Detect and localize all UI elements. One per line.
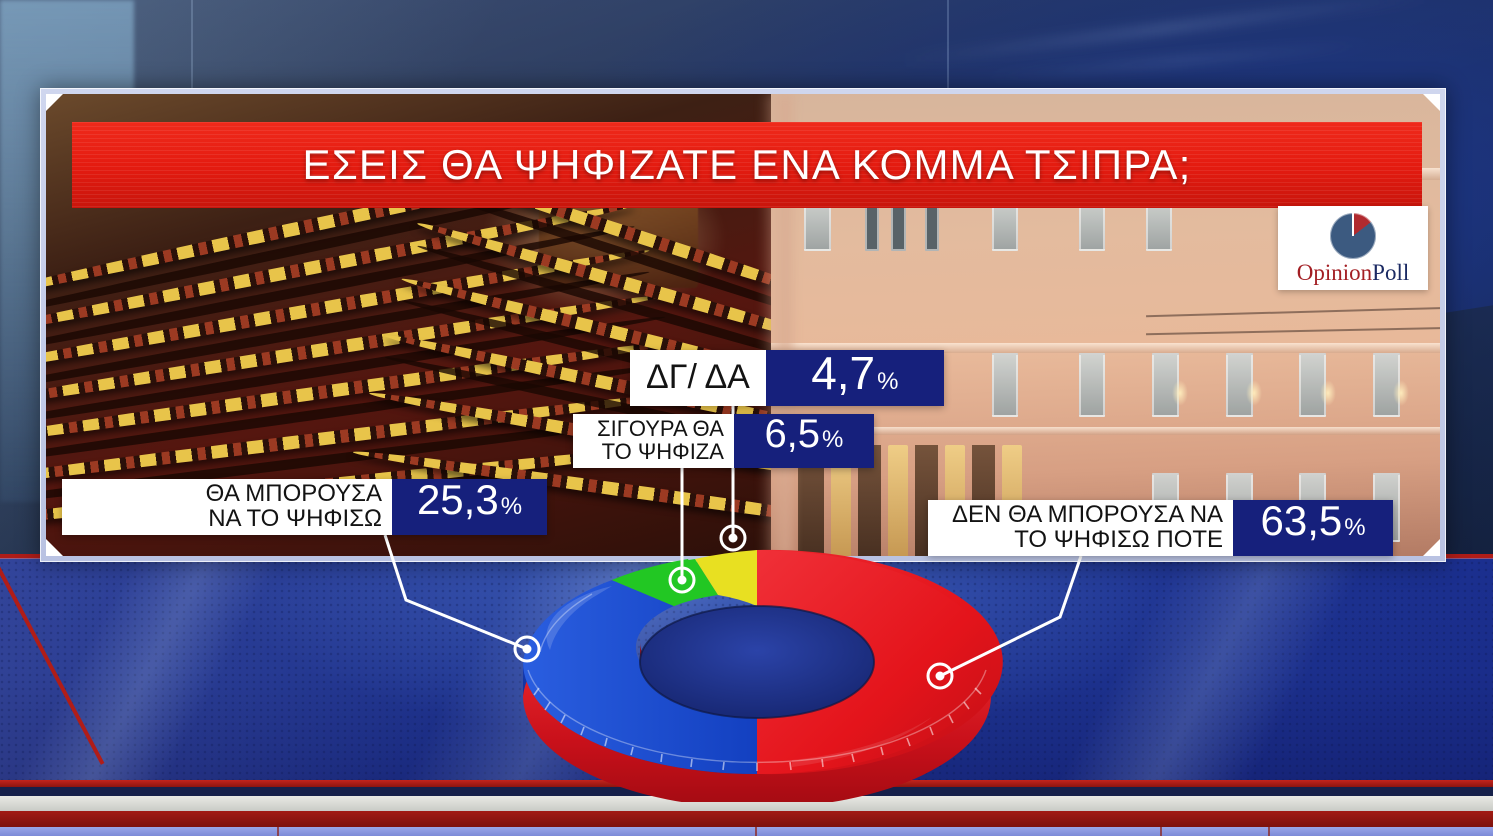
band-tick-4 [1268,827,1270,836]
callout-sigoura-number: 6,5 [764,414,820,454]
title-bar: ΕΣΕΙΣ ΘΑ ΨΗΦΙΖΑΤΕ ΕΝΑ ΚΟΜΜΑ ΤΣΙΠΡΑ; [72,122,1422,208]
title-bar-scanlines [72,122,1422,208]
band-tick-2 [755,827,757,836]
corner-marker-top-right [1423,94,1440,111]
callout-sigoura-unit: % [822,428,843,452]
callout-pote-label: ΔΕΝ ΘΑ ΜΠΟΡΟΥΣΑ ΝΑ ΤΟ ΨΗΦΙΣΩ ΠΟΤΕ [928,500,1233,556]
callout-borousa[interactable]: ΘΑ ΜΠΟΡΟΥΣΑ ΝΑ ΤΟ ΨΗΦΙΣΩ 25,3 % [62,479,547,535]
chamber-podium [539,196,698,288]
callout-dg-da-label-line1: ΔΓ/ ΔΑ [646,360,750,395]
pie-chart-icon [1330,213,1376,259]
band-tick-1 [277,827,279,836]
callout-sigoura[interactable]: ΣΙΓΟΥΡΑ ΘΑ ΤΟ ΨΗΦΙΖΑ 6,5 % [573,414,874,468]
logo-wordmark: OpinionPoll [1297,261,1409,284]
band-tick-3 [1160,827,1162,836]
callout-borousa-number: 25,3 [417,479,499,521]
callout-pote-unit: % [1344,516,1365,540]
callout-sigoura-value: 6,5 % [734,414,874,468]
corner-marker-bottom-left [46,539,63,556]
callout-borousa-label-line1: ΘΑ ΜΠΟΡΟΥΣΑ [206,482,382,507]
logo-word-poll: Poll [1372,260,1409,285]
corner-marker-bottom-right [1423,539,1440,556]
callout-pote-label-line2: ΤΟ ΨΗΦΙΣΩ ΠΟΤΕ [1014,528,1223,553]
callout-pote-number: 63,5 [1261,500,1343,542]
callout-dg-da-number: 4,7 [811,350,875,396]
callout-dg-da-label: ΔΓ/ ΔΑ [630,350,766,406]
callout-pote-value: 63,5 % [1233,500,1393,556]
chamber-light-glow [481,159,727,316]
band-darkred [0,811,1493,827]
callout-sigoura-label: ΣΙΓΟΥΡΑ ΘΑ ΤΟ ΨΗΦΙΖΑ [573,414,734,468]
opinion-poll-logo: OpinionPoll [1278,206,1428,290]
callout-dg-da[interactable]: ΔΓ/ ΔΑ 4,7 % [630,350,944,406]
callout-pote-label-line1: ΔΕΝ ΘΑ ΜΠΟΡΟΥΣΑ ΝΑ [952,503,1223,528]
page-title: ΕΣΕΙΣ ΘΑ ΨΗΦΙΖΑΤΕ ΕΝΑ ΚΟΜΜΑ ΤΣΙΠΡΑ; [303,141,1192,189]
photo-blend-seam [761,94,792,556]
callout-borousa-label-line2: ΝΑ ΤΟ ΨΗΦΙΣΩ [208,507,382,532]
callout-dg-da-value: 4,7 % [766,350,944,406]
parliament-building-photo [771,94,1440,556]
callout-dg-da-unit: % [877,370,898,394]
corner-marker-top-left [46,94,63,111]
logo-word-opinion: Opinion [1297,260,1372,285]
callout-sigoura-label-line1: ΣΙΓΟΥΡΑ ΘΑ [597,418,724,441]
callout-borousa-value: 25,3 % [392,479,547,535]
callout-sigoura-label-line2: ΤΟ ΨΗΦΙΖΑ [602,441,724,464]
callout-pote[interactable]: ΔΕΝ ΘΑ ΜΠΟΡΟΥΣΑ ΝΑ ΤΟ ΨΗΦΙΣΩ ΠΟΤΕ 63,5 % [928,500,1393,556]
broadcast-graphic: ΕΣΕΙΣ ΘΑ ΨΗΦΙΖΑΤΕ ΕΝΑ ΚΟΜΜΑ ΤΣΙΠΡΑ; Opin… [0,0,1493,836]
callout-borousa-label: ΘΑ ΜΠΟΡΟΥΣΑ ΝΑ ΤΟ ΨΗΦΙΣΩ [62,479,392,535]
callout-borousa-unit: % [501,495,522,519]
